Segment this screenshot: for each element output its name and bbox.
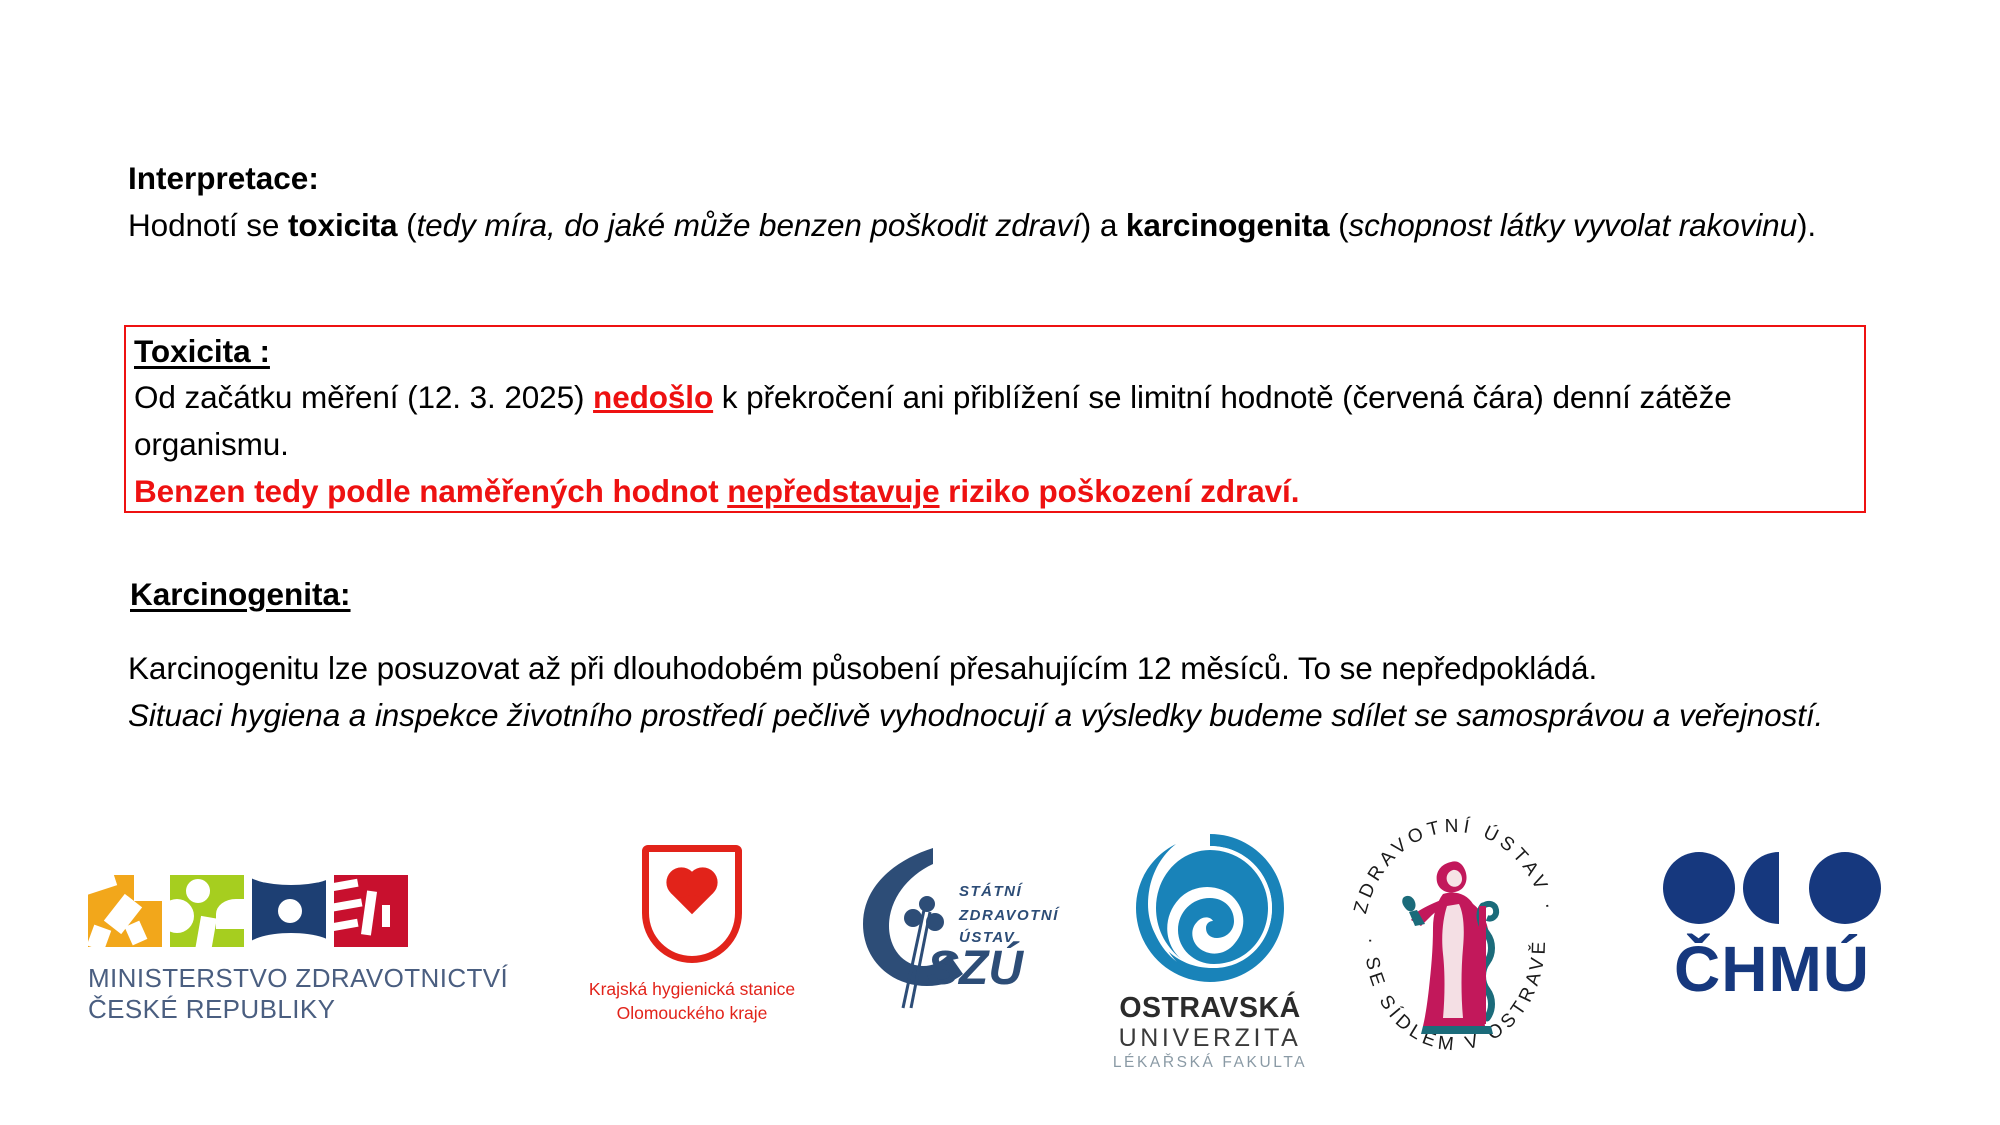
osu-spiral-icon xyxy=(1130,828,1290,988)
khs-wordmark-line1: Krajská hygienická stanice xyxy=(582,977,802,1001)
logo-strip: MINISTERSTVO ZDRAVOTNICTVÍ ČESKÉ REPUBLI… xyxy=(0,790,2000,1090)
chmu-halfcircle-icon xyxy=(1743,852,1779,924)
toxicita-nedoslo-emphasis: nedošlo xyxy=(593,379,713,415)
zuo-seal-icon: ZDRAVOTNÍ ÚSTAV · · SE SÍDLEM V OSTRAVĚ xyxy=(1345,810,1565,1070)
interpretace-paragraph: Hodnotí se toxicita (tedy míra, do jaké … xyxy=(128,202,1873,249)
ostravska-univerzita-logo: OSTRAVSKÁ UNIVERZITA LÉKAŘSKÁ FAKULTA xyxy=(1110,828,1310,1073)
chmu-acronym: ČHMÚ xyxy=(1632,934,1912,1004)
chmu-symbol xyxy=(1632,850,1912,926)
interpretace-text-2: ( xyxy=(397,207,416,243)
toxicita-text-1: Od začátku měření (12. 3. 2025) xyxy=(134,379,593,415)
interpretace-toxicita-definition: tedy míra, do jaké může benzen poškodit … xyxy=(417,207,1081,243)
mzcr-swatch-blue-eye-icon xyxy=(252,875,326,947)
ministerstvo-zdravotnictvi-cr-logo: MINISTERSTVO ZDRAVOTNICTVÍ ČESKÉ REPUBLI… xyxy=(88,875,558,1025)
mzcr-wordmark-line2: ČESKÉ REPUBLIKY xyxy=(88,994,558,1025)
osu-wordmark-line3: LÉKAŘSKÁ FAKULTA xyxy=(1110,1053,1310,1073)
zuo-hygieia-figure-icon xyxy=(1402,861,1496,1034)
toxicita-callout-content: Toxicita : Od začátku měření (12. 3. 202… xyxy=(134,329,1858,515)
szu-text-line2: ZDRAVOTNÍ xyxy=(958,907,1060,924)
karcinogenita-paragraph-2: Situaci hygiena a inspekce životního pro… xyxy=(128,692,1878,739)
mzcr-wordmark: MINISTERSTVO ZDRAVOTNICTVÍ ČESKÉ REPUBLI… xyxy=(88,963,558,1025)
toxicita-conclusion: Benzen tedy podle naměřených hodnot nepř… xyxy=(134,468,1858,515)
osu-wordmark-line2: UNIVERZITA xyxy=(1110,1024,1310,1053)
zdravotni-ustav-ostrava-logo: ZDRAVOTNÍ ÚSTAV · · SE SÍDLEM V OSTRAVĚ xyxy=(1345,810,1565,1070)
khs-shield-icon xyxy=(642,845,742,963)
szu-symbol-icon: STÁTNÍ ZDRAVOTNÍ ÚSTAV SZÚ xyxy=(855,842,1105,1012)
karcinogenita-block: Karcinogenitu lze posuzovat až při dlouh… xyxy=(128,645,1878,739)
mzcr-swatch-green-icon xyxy=(170,875,244,947)
mzcr-wordmark-line1: MINISTERSTVO ZDRAVOTNICTVÍ xyxy=(88,963,558,994)
mzcr-symbol xyxy=(88,875,558,947)
toxicita-paragraph: Od začátku měření (12. 3. 2025) nedošlo … xyxy=(134,374,1858,468)
interpretace-karcinogenita-term: karcinogenita xyxy=(1126,207,1330,243)
interpretace-text-1: Hodnotí se xyxy=(128,207,288,243)
toxicita-callout-box: Toxicita : Od začátku měření (12. 3. 202… xyxy=(124,325,1866,513)
toxicita-title-row: Toxicita : xyxy=(134,329,1858,374)
osu-wordmark: OSTRAVSKÁ UNIVERZITA LÉKAŘSKÁ FAKULTA xyxy=(1110,993,1310,1073)
interpretace-text-5: ). xyxy=(1797,207,1816,243)
karcinogenita-paragraph-1: Karcinogenitu lze posuzovat až při dlouh… xyxy=(128,645,1878,692)
mzcr-swatch-yellow-icon xyxy=(88,875,162,947)
interpretace-text-3: ) a xyxy=(1081,207,1126,243)
szu-text-line1: STÁTNÍ xyxy=(959,883,1023,900)
khs-heart-icon xyxy=(671,872,713,914)
osu-wordmark-line1: OSTRAVSKÁ xyxy=(1110,993,1310,1024)
khs-wordmark-line2: Olomouckého kraje xyxy=(582,1001,802,1025)
toxicita-conclusion-2: riziko poškození zdraví. xyxy=(940,473,1300,509)
interpretace-karcinogenita-definition: schopnost látky vyvolat rakovinu xyxy=(1348,207,1797,243)
khs-wordmark: Krajská hygienická stanice Olomouckého k… xyxy=(582,977,802,1025)
chmu-circle-right-icon xyxy=(1809,852,1881,924)
interpretace-toxicita-term: toxicita xyxy=(288,207,397,243)
karcinogenita-title: Karcinogenita: xyxy=(130,572,351,617)
statni-zdravotni-ustav-logo: STÁTNÍ ZDRAVOTNÍ ÚSTAV SZÚ xyxy=(855,842,1105,1012)
krajska-hygienicka-stanice-logo: Krajská hygienická stanice Olomouckého k… xyxy=(582,845,802,1025)
mzcr-swatch-red-icon xyxy=(334,875,408,947)
toxicita-conclusion-1: Benzen tedy podle naměřených hodnot xyxy=(134,473,727,509)
toxicita-nepredstavuje-emphasis: nepředstavuje xyxy=(727,473,939,509)
chmu-logo: ČHMÚ xyxy=(1632,850,1912,1004)
szu-acronym: SZÚ xyxy=(927,941,1024,995)
interpretace-heading: Interpretace: xyxy=(128,155,1873,202)
chmu-circle-left-icon xyxy=(1663,852,1735,924)
slide-root: Interpretace: Hodnotí se toxicita (tedy … xyxy=(0,0,2000,1125)
toxicita-title: Toxicita : xyxy=(134,329,270,374)
interpretace-text-4: ( xyxy=(1329,207,1348,243)
interpretation-block: Interpretace: Hodnotí se toxicita (tedy … xyxy=(128,155,1873,249)
